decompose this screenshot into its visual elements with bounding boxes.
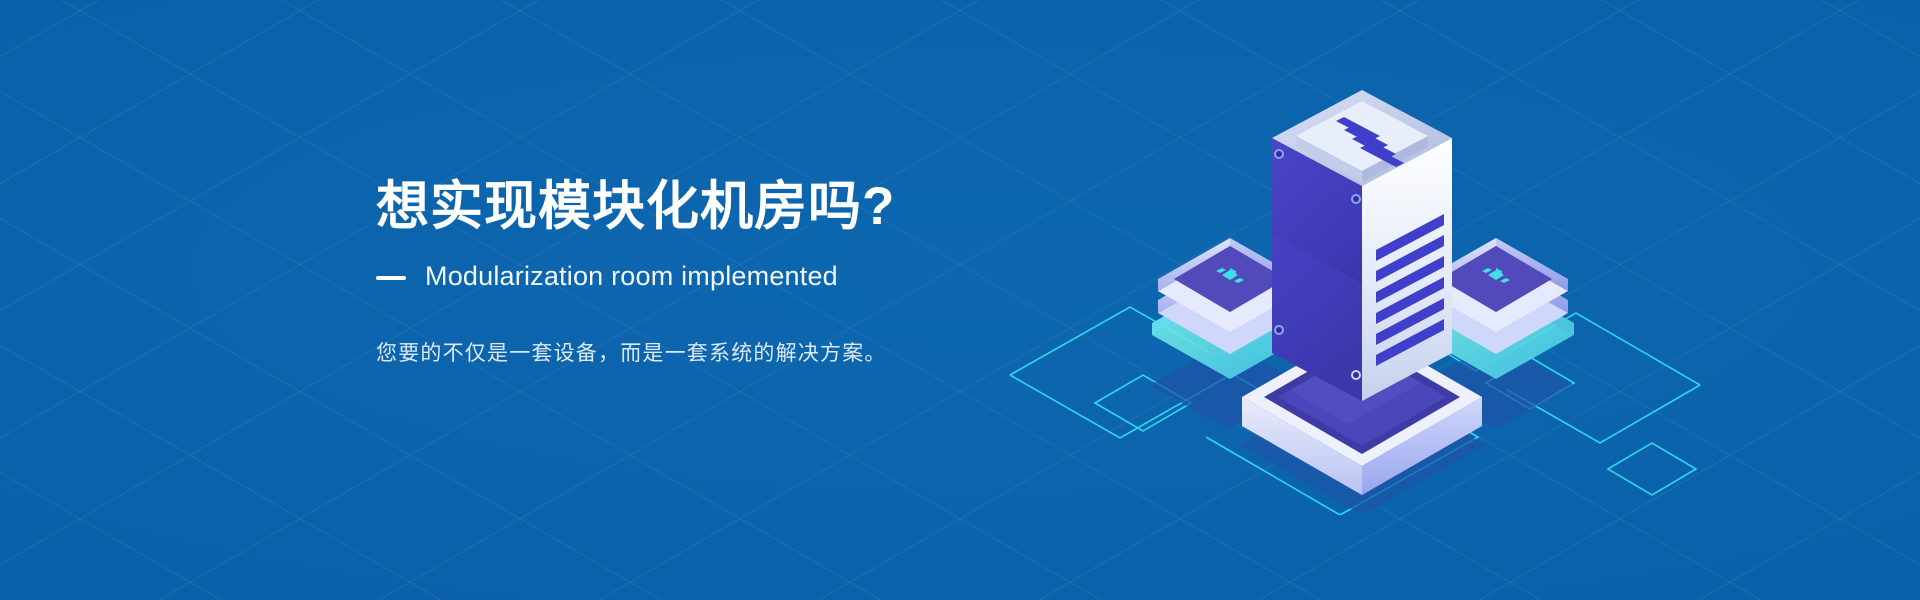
banner-copy: 想实现模块化机房吗? Modularization room implement… (376, 178, 1076, 370)
subtitle: Modularization room implemented (425, 261, 838, 292)
page-title: 想实现模块化机房吗? (376, 178, 1076, 235)
description-text: 您要的不仅是一套设备，而是一套系统的解决方案。 (376, 338, 1076, 370)
server-tower (1272, 90, 1452, 401)
isometric-server-illustration (1000, 85, 1720, 515)
subtitle-row: Modularization room implemented (376, 261, 1076, 292)
hero-banner: 想实现模块化机房吗? Modularization room implement… (0, 0, 1920, 600)
dash-accent-icon (376, 276, 406, 280)
